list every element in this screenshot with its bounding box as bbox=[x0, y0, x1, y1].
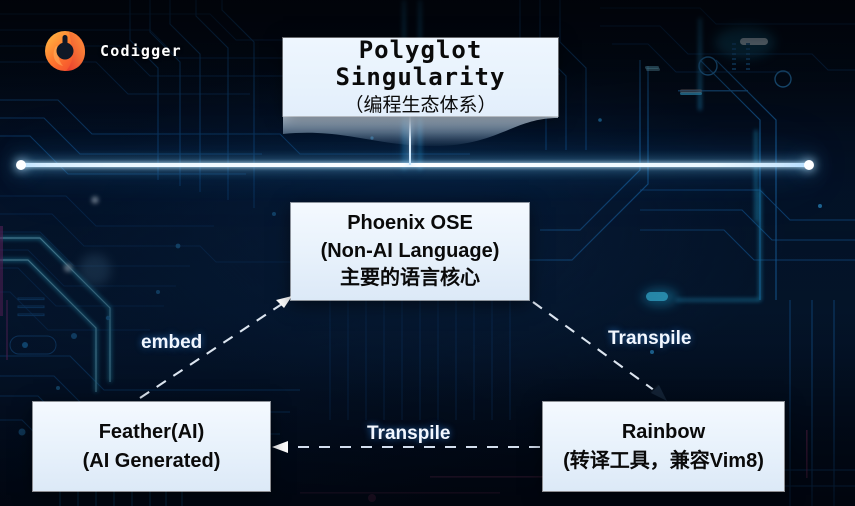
node-line-3: 主要的语言核心 bbox=[340, 265, 480, 293]
edge-label-embed: embed bbox=[141, 332, 202, 354]
node-line-2: (Non-AI Language) bbox=[321, 238, 500, 266]
node-polyglot-singularity[interactable]: Polyglot Singularity （编程生态体系） bbox=[283, 38, 558, 116]
node-phoenix-ose[interactable]: Phoenix OSE (Non-AI Language) 主要的语言核心 bbox=[291, 203, 529, 300]
node-subtitle: （编程生态体系） bbox=[344, 94, 496, 118]
node-line-1: Rainbow bbox=[622, 418, 705, 447]
diagram-canvas: Codigger Polyglot Singularity （编程生态体系） bbox=[0, 0, 855, 506]
brand-name: Codigger bbox=[100, 42, 182, 60]
node-line-1: Feather(AI) bbox=[99, 418, 205, 447]
node-line-2: (AI Generated) bbox=[83, 447, 221, 476]
edge-phoenix-rainbow bbox=[533, 302, 667, 401]
node-line-2: (转译工具，兼容Vim8) bbox=[563, 447, 764, 476]
node-line-1: Phoenix OSE bbox=[347, 210, 473, 238]
brand-mark: Codigger bbox=[42, 28, 182, 74]
node-feather-ai[interactable]: Feather(AI) (AI Generated) bbox=[33, 402, 270, 491]
edge-label-transpile-mid: Transpile bbox=[367, 423, 450, 445]
edge-label-transpile-right: Transpile bbox=[608, 328, 691, 350]
codigger-logo-icon bbox=[42, 28, 88, 74]
node-title: Polyglot Singularity bbox=[283, 37, 558, 92]
node-rainbow[interactable]: Rainbow (转译工具，兼容Vim8) bbox=[543, 402, 784, 491]
